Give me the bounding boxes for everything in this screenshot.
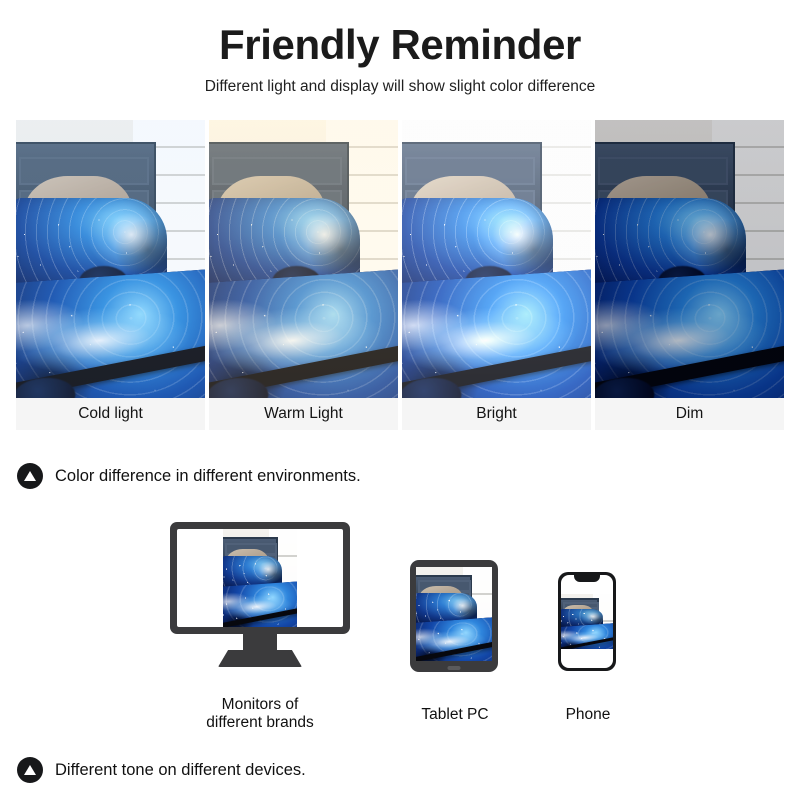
tablet-label: Tablet PC (390, 706, 520, 724)
label-bright: Bright (402, 398, 591, 430)
phone-label: Phone (535, 706, 641, 724)
galaxy-duvet (595, 268, 784, 398)
monitor-base (218, 650, 302, 667)
monitor-frame (170, 522, 350, 634)
monitor-neck (243, 634, 277, 650)
note-text: Different tone on different devices. (55, 762, 306, 779)
tablet-illustration (410, 560, 498, 672)
phone-illustration (558, 572, 616, 671)
phone-screen (561, 575, 613, 668)
monitor-illustration (170, 522, 350, 667)
bedding-photo (561, 594, 613, 650)
galaxy-duvet (402, 268, 591, 398)
galaxy-duvet (209, 268, 398, 398)
photo-panel-dim (595, 120, 784, 398)
bedding-photo (402, 120, 591, 398)
tablet-home-button[interactable] (448, 666, 461, 670)
monitor-screen (177, 529, 343, 627)
page-subtitle: Different light and display will show sl… (0, 78, 800, 97)
monitor-label-line2: different brands (170, 714, 350, 732)
label-cold-light: Cold light (16, 398, 205, 430)
note-text: Color difference in different environmen… (55, 468, 361, 485)
photo-panel-cold-light (16, 120, 205, 398)
galaxy-duvet (16, 268, 205, 398)
galaxy-duvet (223, 581, 297, 627)
note-device-tone: Different tone on different devices. (17, 757, 306, 783)
device-illustrations: Monitors of different brands Tablet PC P… (0, 510, 800, 750)
bedding-thumbnail (416, 567, 492, 661)
bedding-photo (595, 120, 784, 398)
triangle-up-circle-icon (17, 757, 43, 783)
galaxy-duvet (416, 616, 492, 661)
note-color-difference: Color difference in different environmen… (17, 463, 361, 489)
bedding-photo (209, 120, 398, 398)
friendly-reminder-page: Friendly Reminder Different light and di… (0, 0, 800, 800)
bedding-photo (16, 120, 205, 398)
page-title: Friendly Reminder (0, 22, 800, 68)
monitor-label: Monitors of different brands (170, 696, 350, 733)
bedding-photo (416, 567, 492, 661)
monitor-label-line1: Monitors of (170, 696, 350, 714)
galaxy-duvet (561, 623, 613, 650)
label-warm-light: Warm Light (209, 398, 398, 430)
lighting-label-row: Cold light Warm Light Bright Dim (16, 398, 784, 430)
photo-panel-warm-light (209, 120, 398, 398)
triangle-up-circle-icon (17, 463, 43, 489)
bedding-photo (223, 529, 297, 627)
bedding-thumbnail (223, 529, 297, 627)
lighting-comparison-strip (16, 120, 784, 398)
tablet-frame (410, 560, 498, 672)
label-dim: Dim (595, 398, 784, 430)
phone-frame (558, 572, 616, 671)
phone-notch (574, 575, 600, 582)
bedding-thumbnail (561, 594, 613, 650)
photo-panel-bright (402, 120, 591, 398)
page-header: Friendly Reminder Different light and di… (0, 22, 800, 97)
tablet-screen (416, 567, 492, 661)
